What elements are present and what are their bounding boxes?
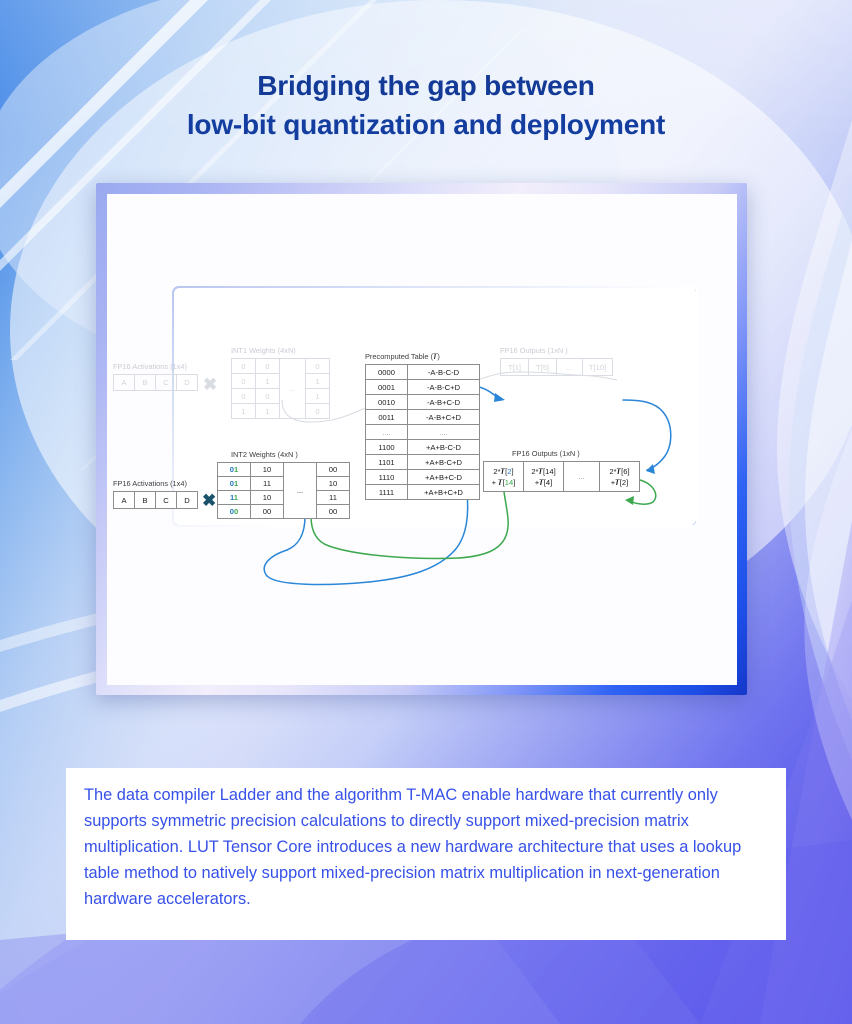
lut-index: 1100 bbox=[366, 440, 408, 455]
weight-cell: 11 bbox=[317, 491, 350, 505]
weight-cell-bits: 11 bbox=[218, 491, 251, 505]
lut-index: 1111 bbox=[366, 485, 408, 500]
lut-index: 0010 bbox=[366, 395, 408, 410]
table-row: 0001 -A-B-C+D bbox=[366, 380, 480, 395]
lut-value: +A+B+C-D bbox=[408, 470, 480, 485]
table-row: 2*𝑻[2] + 𝑻[14] 2*𝑻[14] +𝑻[4] bbox=[484, 462, 640, 492]
output-cell: 2*𝑻[6] +𝑻[2] bbox=[600, 462, 640, 492]
weight-cell: 00 bbox=[251, 505, 284, 519]
lut-value: +A+B-C+D bbox=[408, 455, 480, 470]
table-row: 0011 -A-B+C+D bbox=[366, 410, 480, 425]
faded-weights-label: INT1 Weights (4xN) bbox=[231, 346, 296, 356]
table-row: 1110 +A+B+C-D bbox=[366, 470, 480, 485]
caption-text: The data compiler Ladder and the algorit… bbox=[84, 782, 768, 912]
faded-act-cell: A bbox=[114, 375, 135, 391]
precomputed-table: 0000 -A-B-C-D 0001 -A-B-C+D 0010 -A-B+C-… bbox=[365, 364, 480, 500]
faded-w-cell: 0 bbox=[232, 374, 256, 389]
faded-w-cell: 1 bbox=[306, 374, 330, 389]
activations-label: FP16 Activations (1x4) bbox=[113, 479, 187, 489]
table-row: .... .... bbox=[366, 425, 480, 440]
faded-w-cell: 0 bbox=[306, 359, 330, 374]
output-top: 2*𝑻[2] bbox=[493, 467, 513, 476]
weight-cell-bits: 01 bbox=[218, 477, 251, 491]
faded-activations-table: A B C D bbox=[113, 374, 198, 391]
output-cell: 2*𝑻[2] + 𝑻[14] bbox=[484, 462, 524, 492]
weight-cell: 00 bbox=[317, 463, 350, 477]
faded-act-cell: B bbox=[135, 375, 156, 391]
weight-cell: 11 bbox=[251, 477, 284, 491]
lut-tensor-core-diagram: FP16 Activations (1x4) A B C D ✖ INT1 We… bbox=[107, 194, 758, 706]
lut-index: 0000 bbox=[366, 365, 408, 380]
lut-value: -A-B-C-D bbox=[408, 365, 480, 380]
faded-w-cell: 0 bbox=[256, 359, 280, 374]
weight-cell: 10 bbox=[251, 491, 284, 505]
weights-label: INT2 Weights (4xN ) bbox=[231, 450, 298, 460]
activation-cell: C bbox=[156, 492, 177, 509]
faded-weights-table: 0 0 ... 0 0 1 1 0 0 1 bbox=[231, 358, 330, 419]
bit-low: 1 bbox=[234, 493, 238, 502]
activation-cell: B bbox=[135, 492, 156, 509]
table-row: 1100 +A+B-C-D bbox=[366, 440, 480, 455]
lut-index: 0011 bbox=[366, 410, 408, 425]
title-line-2: low-bit quantization and deployment bbox=[0, 105, 852, 144]
bit-low: 1 bbox=[234, 465, 238, 474]
faded-w-cell: 0 bbox=[232, 359, 256, 374]
bit-low: 1 bbox=[234, 479, 238, 488]
weight-cell-bits: 00 bbox=[218, 505, 251, 519]
faded-w-cell: 0 bbox=[256, 389, 280, 404]
table-row: 1111 +A+B+C+D bbox=[366, 485, 480, 500]
weights-table: 01 10 ... 00 01 11 10 11 10 11 bbox=[217, 462, 350, 519]
output-bottom: +𝑻[2] bbox=[611, 478, 628, 487]
lut-value: +A+B+C+D bbox=[408, 485, 480, 500]
faded-out-cell: T[1] bbox=[501, 359, 529, 376]
lut-value: +A+B-C-D bbox=[408, 440, 480, 455]
output-bottom: +𝑻[4] bbox=[535, 478, 552, 487]
outputs-table: 2*𝑻[2] + 𝑻[14] 2*𝑻[14] +𝑻[4] bbox=[483, 461, 640, 492]
output-ellipsis: ... bbox=[564, 462, 600, 492]
faded-multiply-icon: ✖ bbox=[203, 376, 217, 393]
table-row: 01 10 ... 00 bbox=[218, 463, 350, 477]
weight-cell: 10 bbox=[251, 463, 284, 477]
faded-out-ellipsis: ... bbox=[557, 359, 583, 376]
lut-index: 1101 bbox=[366, 455, 408, 470]
activation-cell: D bbox=[177, 492, 198, 509]
faded-out-cell: T[10] bbox=[583, 359, 613, 376]
weight-cell-bits: 01 bbox=[218, 463, 251, 477]
faded-activations-label: FP16 Activations (1x4) bbox=[113, 362, 187, 372]
outputs-label: FP16 Outputs (1xN ) bbox=[512, 449, 580, 459]
activation-cell: A bbox=[114, 492, 135, 509]
faded-outputs-table: T[1] T[5] ... T[10] bbox=[500, 358, 613, 376]
lut-index-ellipsis: .... bbox=[366, 425, 408, 440]
multiply-icon: ✖ bbox=[202, 492, 216, 509]
lut-value: -A-B+C-D bbox=[408, 395, 480, 410]
faded-outputs-label: FP16 Outputs (1xN ) bbox=[500, 346, 568, 356]
output-bottom: + 𝑻[14] bbox=[492, 478, 516, 487]
weight-cell: 10 bbox=[317, 477, 350, 491]
slide-card: FP16 Activations (1x4) A B C D ✖ INT1 We… bbox=[96, 183, 747, 695]
faded-w-cell: 1 bbox=[306, 389, 330, 404]
faded-w-ellipsis: ... bbox=[280, 359, 306, 419]
precomputed-table-label: Precomputed Table (𝑻) bbox=[365, 352, 440, 362]
weight-ellipsis: ... bbox=[284, 463, 317, 519]
output-cell: 2*𝑻[14] +𝑻[4] bbox=[524, 462, 564, 492]
lut-value: -A-B+C+D bbox=[408, 410, 480, 425]
faded-w-cell: 1 bbox=[256, 404, 280, 419]
table-row: 0010 -A-B+C-D bbox=[366, 395, 480, 410]
title-line-1: Bridging the gap between bbox=[0, 66, 852, 105]
table-row: 0000 -A-B-C-D bbox=[366, 365, 480, 380]
lut-idx-green: 14 bbox=[505, 478, 513, 487]
bit-low: 0 bbox=[234, 507, 238, 516]
page-title: Bridging the gap between low-bit quantiz… bbox=[0, 66, 852, 144]
lut-index: 1110 bbox=[366, 470, 408, 485]
activations-table: A B C D bbox=[113, 491, 198, 509]
caption-box: The data compiler Ladder and the algorit… bbox=[66, 768, 786, 940]
table-row: 1101 +A+B-C+D bbox=[366, 455, 480, 470]
output-top: 2*𝑻[6] bbox=[609, 467, 629, 476]
faded-w-cell: 0 bbox=[306, 404, 330, 419]
faded-w-cell: 1 bbox=[232, 404, 256, 419]
faded-w-cell: 1 bbox=[256, 374, 280, 389]
slide-inner-surface: FP16 Activations (1x4) A B C D ✖ INT1 We… bbox=[107, 194, 737, 685]
faded-out-cell: T[5] bbox=[529, 359, 557, 376]
faded-act-cell: D bbox=[177, 375, 198, 391]
lut-value: -A-B-C+D bbox=[408, 380, 480, 395]
lut-value-ellipsis: .... bbox=[408, 425, 480, 440]
output-top: 2*𝑻[14] bbox=[531, 467, 555, 476]
faded-act-cell: C bbox=[156, 375, 177, 391]
faded-w-cell: 0 bbox=[232, 389, 256, 404]
lut-index: 0001 bbox=[366, 380, 408, 395]
weight-cell: 00 bbox=[317, 505, 350, 519]
